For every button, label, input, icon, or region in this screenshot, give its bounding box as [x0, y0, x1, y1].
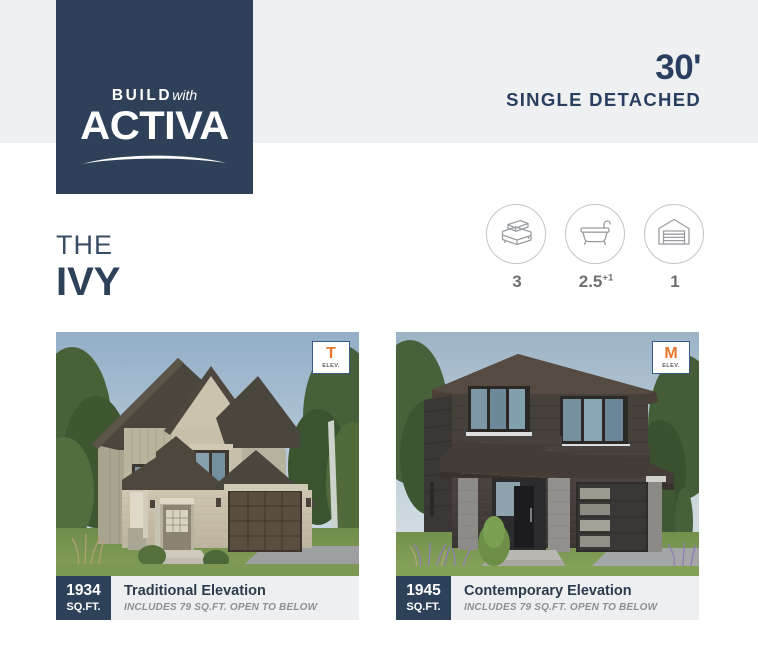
elevation-sublabel: ELEV.	[322, 364, 339, 370]
bathrooms-circle	[565, 204, 625, 264]
elevation-subtitle: INCLUDES 79 SQ.FT. OPEN TO BELOW	[124, 602, 317, 613]
lot-width-label: 30'	[506, 50, 701, 85]
garage-value: 1	[670, 272, 679, 291]
contemporary-elevation-photo: M ELEV.	[396, 332, 699, 576]
elevation-badge-traditional: T ELEV.	[312, 341, 350, 374]
sqft-badge-traditional: 1934 SQ.FT.	[56, 576, 111, 620]
bedrooms-value: 3	[512, 272, 521, 291]
spec-icon-row: 3 2.5+1	[486, 204, 706, 304]
bedrooms-value-wrap: 3	[486, 273, 548, 290]
title-model-name: IVY	[56, 262, 120, 302]
bathrooms-extra: +1	[602, 272, 613, 283]
bed-icon	[497, 217, 535, 252]
elevation-letter: T	[326, 346, 336, 362]
caption-text-traditional: Traditional Elevation INCLUDES 79 SQ.FT.…	[111, 576, 317, 620]
logo-build-with-line: BUILDwith	[56, 88, 253, 104]
bathrooms-value: 2.5	[579, 272, 603, 291]
garage-circle	[644, 204, 704, 264]
elevation-badge-contemporary: M ELEV.	[652, 341, 690, 374]
swoosh-underline-icon	[80, 152, 228, 166]
spec-bedrooms: 3	[486, 204, 548, 304]
header-specs-text: 30' SINGLE DETACHED	[506, 50, 701, 110]
spec-bathrooms: 2.5+1	[565, 204, 627, 304]
elevation-title: Traditional Elevation	[124, 583, 317, 600]
caption-bar-contemporary: 1945 SQ.FT. Contemporary Elevation INCLU…	[396, 576, 699, 620]
garage-icon	[656, 216, 692, 253]
garage-value-wrap: 1	[644, 273, 706, 290]
caption-text-contemporary: Contemporary Elevation INCLUDES 79 SQ.FT…	[451, 576, 657, 620]
sqft-unit: SQ.FT.	[66, 601, 100, 613]
bath-icon	[576, 217, 614, 252]
model-title: THE IVY	[56, 232, 120, 302]
elevation-letter: M	[664, 346, 677, 362]
logo-text-group: BUILDwith ACTIVA	[56, 88, 253, 146]
logo-with-text: with	[172, 87, 197, 103]
logo-activa-text: ACTIVA	[56, 106, 253, 146]
elevation-title: Contemporary Elevation	[464, 583, 657, 600]
elevation-card-traditional[interactable]: T ELEV. 1934 SQ.FT. Traditional Elevatio…	[56, 332, 359, 620]
home-type-label: SINGLE DETACHED	[506, 91, 701, 110]
elevation-subtitle: INCLUDES 79 SQ.FT. OPEN TO BELOW	[464, 602, 657, 613]
traditional-elevation-photo: T ELEV.	[56, 332, 359, 576]
elevation-sublabel: ELEV.	[662, 364, 679, 370]
spec-garage: 1	[644, 204, 706, 304]
bedrooms-circle	[486, 204, 546, 264]
title-prefix: THE	[56, 232, 120, 259]
activa-logo-block: BUILDwith ACTIVA	[56, 0, 253, 194]
sqft-number: 1945	[406, 583, 440, 599]
sqft-badge-contemporary: 1945 SQ.FT.	[396, 576, 451, 620]
logo-build-text: BUILD	[112, 87, 172, 104]
bathrooms-value-wrap: 2.5+1	[565, 273, 627, 290]
caption-bar-traditional: 1934 SQ.FT. Traditional Elevation INCLUD…	[56, 576, 359, 620]
sqft-unit: SQ.FT.	[406, 601, 440, 613]
sqft-number: 1934	[66, 583, 100, 599]
elevation-card-contemporary[interactable]: M ELEV. 1945 SQ.FT. Contemporary Elevati…	[396, 332, 699, 620]
